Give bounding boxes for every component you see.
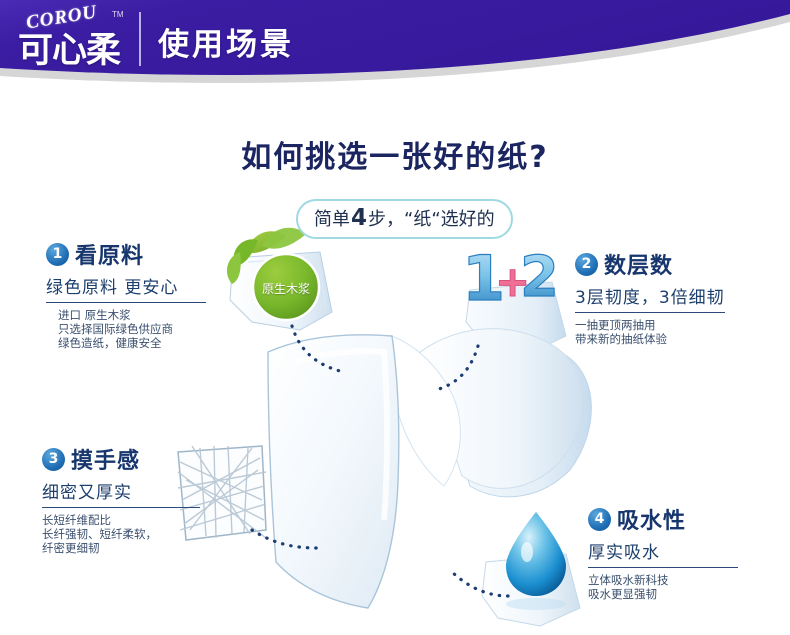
- trademark-icon: TM: [112, 10, 124, 19]
- step-3-title: 摸手感: [71, 443, 140, 475]
- step-1-block: 1 看原料 绿色原料 更安心 进口 原生木浆 只选择国际绿色供应商 绿色造纸，健…: [46, 238, 206, 350]
- step-3-detail: 长短纤维配比 长纤强韧、短纤柔软， 纤密更细韧: [42, 513, 200, 555]
- step-1-header: 1 看原料: [46, 238, 206, 270]
- step-4-header: 4 吸水性: [588, 503, 738, 535]
- step-2-header: 2 数层数: [575, 248, 725, 280]
- brand-chinese-name: 可心柔: [18, 22, 120, 73]
- subtitle-before: 简单: [314, 209, 350, 230]
- step-4-number-badge: 4: [588, 508, 611, 531]
- step-4-detail: 立体吸水新科技 吸水更显强韧: [588, 573, 738, 601]
- step-4-rule: [588, 567, 738, 568]
- svg-text:2: 2: [520, 245, 559, 310]
- pulp-badge-label: 原生木浆: [255, 280, 317, 297]
- subtitle-after: 步，“纸“选好的: [368, 209, 495, 230]
- step-3-rule: [42, 507, 200, 508]
- step-4-title: 吸水性: [617, 503, 686, 535]
- step-1-title: 看原料: [75, 238, 144, 270]
- brand-logo: COROU TM 可心柔: [18, 6, 130, 68]
- step-1-number-badge: 1: [46, 243, 69, 266]
- step-1-rule: [46, 302, 206, 303]
- step-2-subtitle: 3层韧度，3倍细韧: [575, 283, 725, 308]
- step-3-header: 3 摸手感: [42, 443, 200, 475]
- step-2-rule: [575, 312, 725, 313]
- product-infographic-page: 1 + 2: [0, 0, 790, 635]
- step-2-title: 数层数: [604, 248, 673, 280]
- step-3-subtitle: 细密又厚实: [42, 478, 200, 503]
- step-4-subtitle: 厚实吸水: [588, 538, 738, 563]
- header-divider: [139, 12, 141, 66]
- step-2-detail: 一抽更顶两抽用 带来新的抽纸体验: [575, 318, 725, 346]
- step-4-block: 4 吸水性 厚实吸水 立体吸水新科技 吸水更显强韧: [588, 503, 738, 601]
- step-3-block: 3 摸手感 细密又厚实 长短纤维配比 长纤强韧、短纤柔软， 纤密更细韧: [42, 443, 200, 555]
- header-title: 使用场景: [158, 19, 294, 64]
- step-1-detail: 进口 原生木浆 只选择国际绿色供应商 绿色造纸，健康安全: [46, 308, 206, 350]
- subtitle-bubble: 简单4步，“纸“选好的: [296, 199, 513, 239]
- step-3-number-badge: 3: [42, 448, 65, 471]
- step-2-number-badge: 2: [575, 253, 598, 276]
- step-1-subtitle: 绿色原料 更安心: [46, 273, 206, 298]
- step-2-block: 2 数层数 3层韧度，3倍细韧 一抽更顶两抽用 带来新的抽纸体验: [575, 248, 725, 346]
- subtitle-number: 4: [350, 205, 368, 231]
